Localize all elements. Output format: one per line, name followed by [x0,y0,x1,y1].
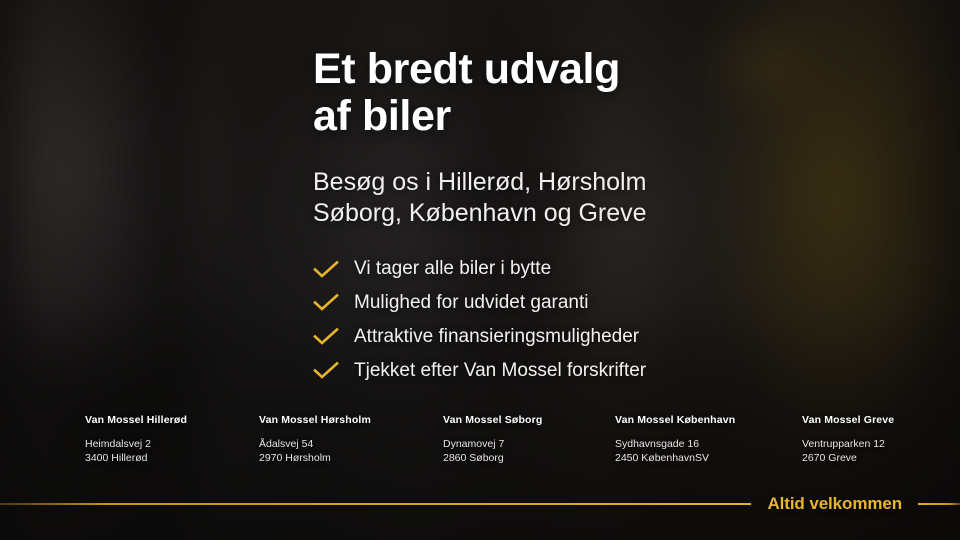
list-item-label: Tjekket efter Van Mossel forskrifter [354,361,646,382]
dealer-street: Ventrupparken 12 [802,438,894,452]
page-title: Et bredt udvalg af biler [313,46,933,141]
dealer-street: Dynamovej 7 [443,438,542,452]
dealer-name: Van Mossel Hørsholm [259,414,371,426]
subtitle: Besøg os i Hillerød, Hørsholm Søborg, Kø… [313,167,933,230]
dealer-locations: Van Mossel Hillerød Heimdalsvej 2 3400 H… [0,414,960,474]
dealer-street: Sydhavnsgade 16 [615,438,735,452]
list-item-label: Attraktive finansieringsmuligheder [354,327,639,348]
dealer-name: Van Mossel Greve [802,414,894,426]
divider-rule-left [0,503,751,505]
list-item-label: Mulighed for udvidet garanti [354,293,588,314]
check-icon [313,362,339,380]
dealer-city: 2860 Søborg [443,452,542,466]
dealer-city: 2970 Hørsholm [259,452,371,466]
check-icon [313,294,339,312]
list-item: Mulighed for udvidet garanti [313,293,933,314]
main-content: Et bredt udvalg af biler Besøg os i Hill… [313,46,933,395]
dealer-city: 2450 KøbenhavnSV [615,452,735,466]
dealer-name: Van Mossel Hillerød [85,414,187,426]
tagline: Altid velkommen [751,494,918,514]
dealer-city: 2670 Greve [802,452,894,466]
dealer-name: Van Mossel Søborg [443,414,542,426]
dealer-card-kobenhavn: Van Mossel København Sydhavnsgade 16 245… [615,414,735,466]
dealer-card-hillerod: Van Mossel Hillerød Heimdalsvej 2 3400 H… [85,414,187,466]
dealer-street: Heimdalsvej 2 [85,438,187,452]
dealer-name: Van Mossel København [615,414,735,426]
list-item: Attraktive finansieringsmuligheder [313,327,933,348]
list-item-label: Vi tager alle biler i bytte [354,259,551,280]
dealer-city: 3400 Hillerød [85,452,187,466]
footer-bar: Altid velkommen [0,492,960,516]
list-item: Vi tager alle biler i bytte [313,259,933,280]
feature-list: Vi tager alle biler i bytte Mulighed for… [313,259,933,382]
promo-slide: Et bredt udvalg af biler Besøg os i Hill… [0,0,960,540]
divider-rule-right [918,503,960,505]
check-icon [313,328,339,346]
dealer-street: Ådalsvej 54 [259,438,371,452]
check-icon [313,261,339,279]
dealer-card-horsholm: Van Mossel Hørsholm Ådalsvej 54 2970 Hør… [259,414,371,466]
dealer-card-greve: Van Mossel Greve Ventrupparken 12 2670 G… [802,414,894,466]
list-item: Tjekket efter Van Mossel forskrifter [313,361,933,382]
dealer-card-soborg: Van Mossel Søborg Dynamovej 7 2860 Søbor… [443,414,542,466]
